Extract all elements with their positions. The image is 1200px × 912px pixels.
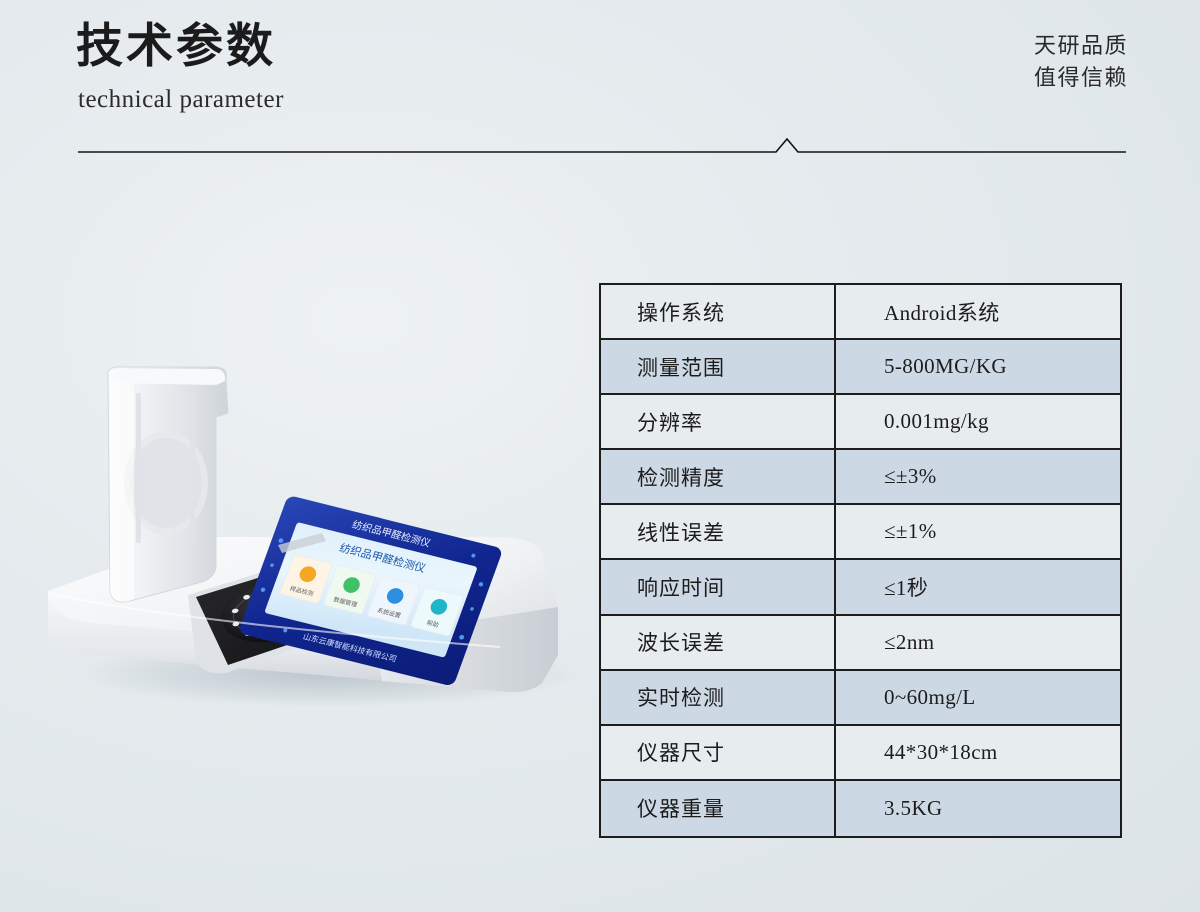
- table-row: 检测精度 ≤±3%: [601, 450, 1120, 505]
- spec-key: 测量范围: [601, 340, 836, 393]
- spec-value: ≤1秒: [836, 560, 1120, 613]
- instrument-photo: 纺织品甲醛检测仪 纺织品甲醛检测仪 样品检测 数据管理: [30, 355, 590, 715]
- spec-value: 3.5KG: [836, 781, 1120, 836]
- spec-value: 0~60mg/L: [836, 671, 1120, 724]
- spec-value: ≤2nm: [836, 616, 1120, 669]
- spec-value: ≤±3%: [836, 450, 1120, 503]
- table-row: 分辨率 0.001mg/kg: [601, 395, 1120, 450]
- page-root: 技术参数 technical parameter 天研品质 值得信赖: [0, 0, 1200, 912]
- table-row: 操作系统 Android系统: [601, 285, 1120, 340]
- spec-key: 波长误差: [601, 616, 836, 669]
- page-title: 技术参数: [76, 20, 276, 74]
- spec-key: 检测精度: [601, 450, 836, 503]
- spec-value: 0.001mg/kg: [836, 395, 1120, 448]
- spec-key: 响应时间: [601, 560, 836, 613]
- page-subtitle: technical parameter: [78, 86, 284, 114]
- spec-value: ≤±1%: [836, 505, 1120, 558]
- table-row: 波长误差 ≤2nm: [601, 616, 1120, 671]
- spec-key: 仪器重量: [601, 781, 836, 836]
- header-divider: [78, 128, 1126, 160]
- table-row: 响应时间 ≤1秒: [601, 560, 1120, 615]
- spec-key: 仪器尺寸: [601, 726, 836, 779]
- spec-key: 实时检测: [601, 671, 836, 724]
- brand-slogan-line2: 值得信赖: [1034, 62, 1128, 94]
- table-row: 仪器尺寸 44*30*18cm: [601, 726, 1120, 781]
- spec-value: Android系统: [836, 285, 1120, 338]
- brand-slogan: 天研品质 值得信赖: [1034, 30, 1128, 94]
- table-row: 测量范围 5-800MG/KG: [601, 340, 1120, 395]
- table-row: 实时检测 0~60mg/L: [601, 671, 1120, 726]
- spec-value: 5-800MG/KG: [836, 340, 1120, 393]
- table-row: 线性误差 ≤±1%: [601, 505, 1120, 560]
- spec-key: 操作系统: [601, 285, 836, 338]
- spec-key: 线性误差: [601, 505, 836, 558]
- table-row: 仪器重量 3.5KG: [601, 781, 1120, 836]
- brand-slogan-line1: 天研品质: [1034, 30, 1128, 62]
- device-lid: [108, 367, 228, 602]
- spec-value: 44*30*18cm: [836, 726, 1120, 779]
- spec-key: 分辨率: [601, 395, 836, 448]
- spec-table: 操作系统 Android系统 测量范围 5-800MG/KG 分辨率 0.001…: [599, 283, 1122, 838]
